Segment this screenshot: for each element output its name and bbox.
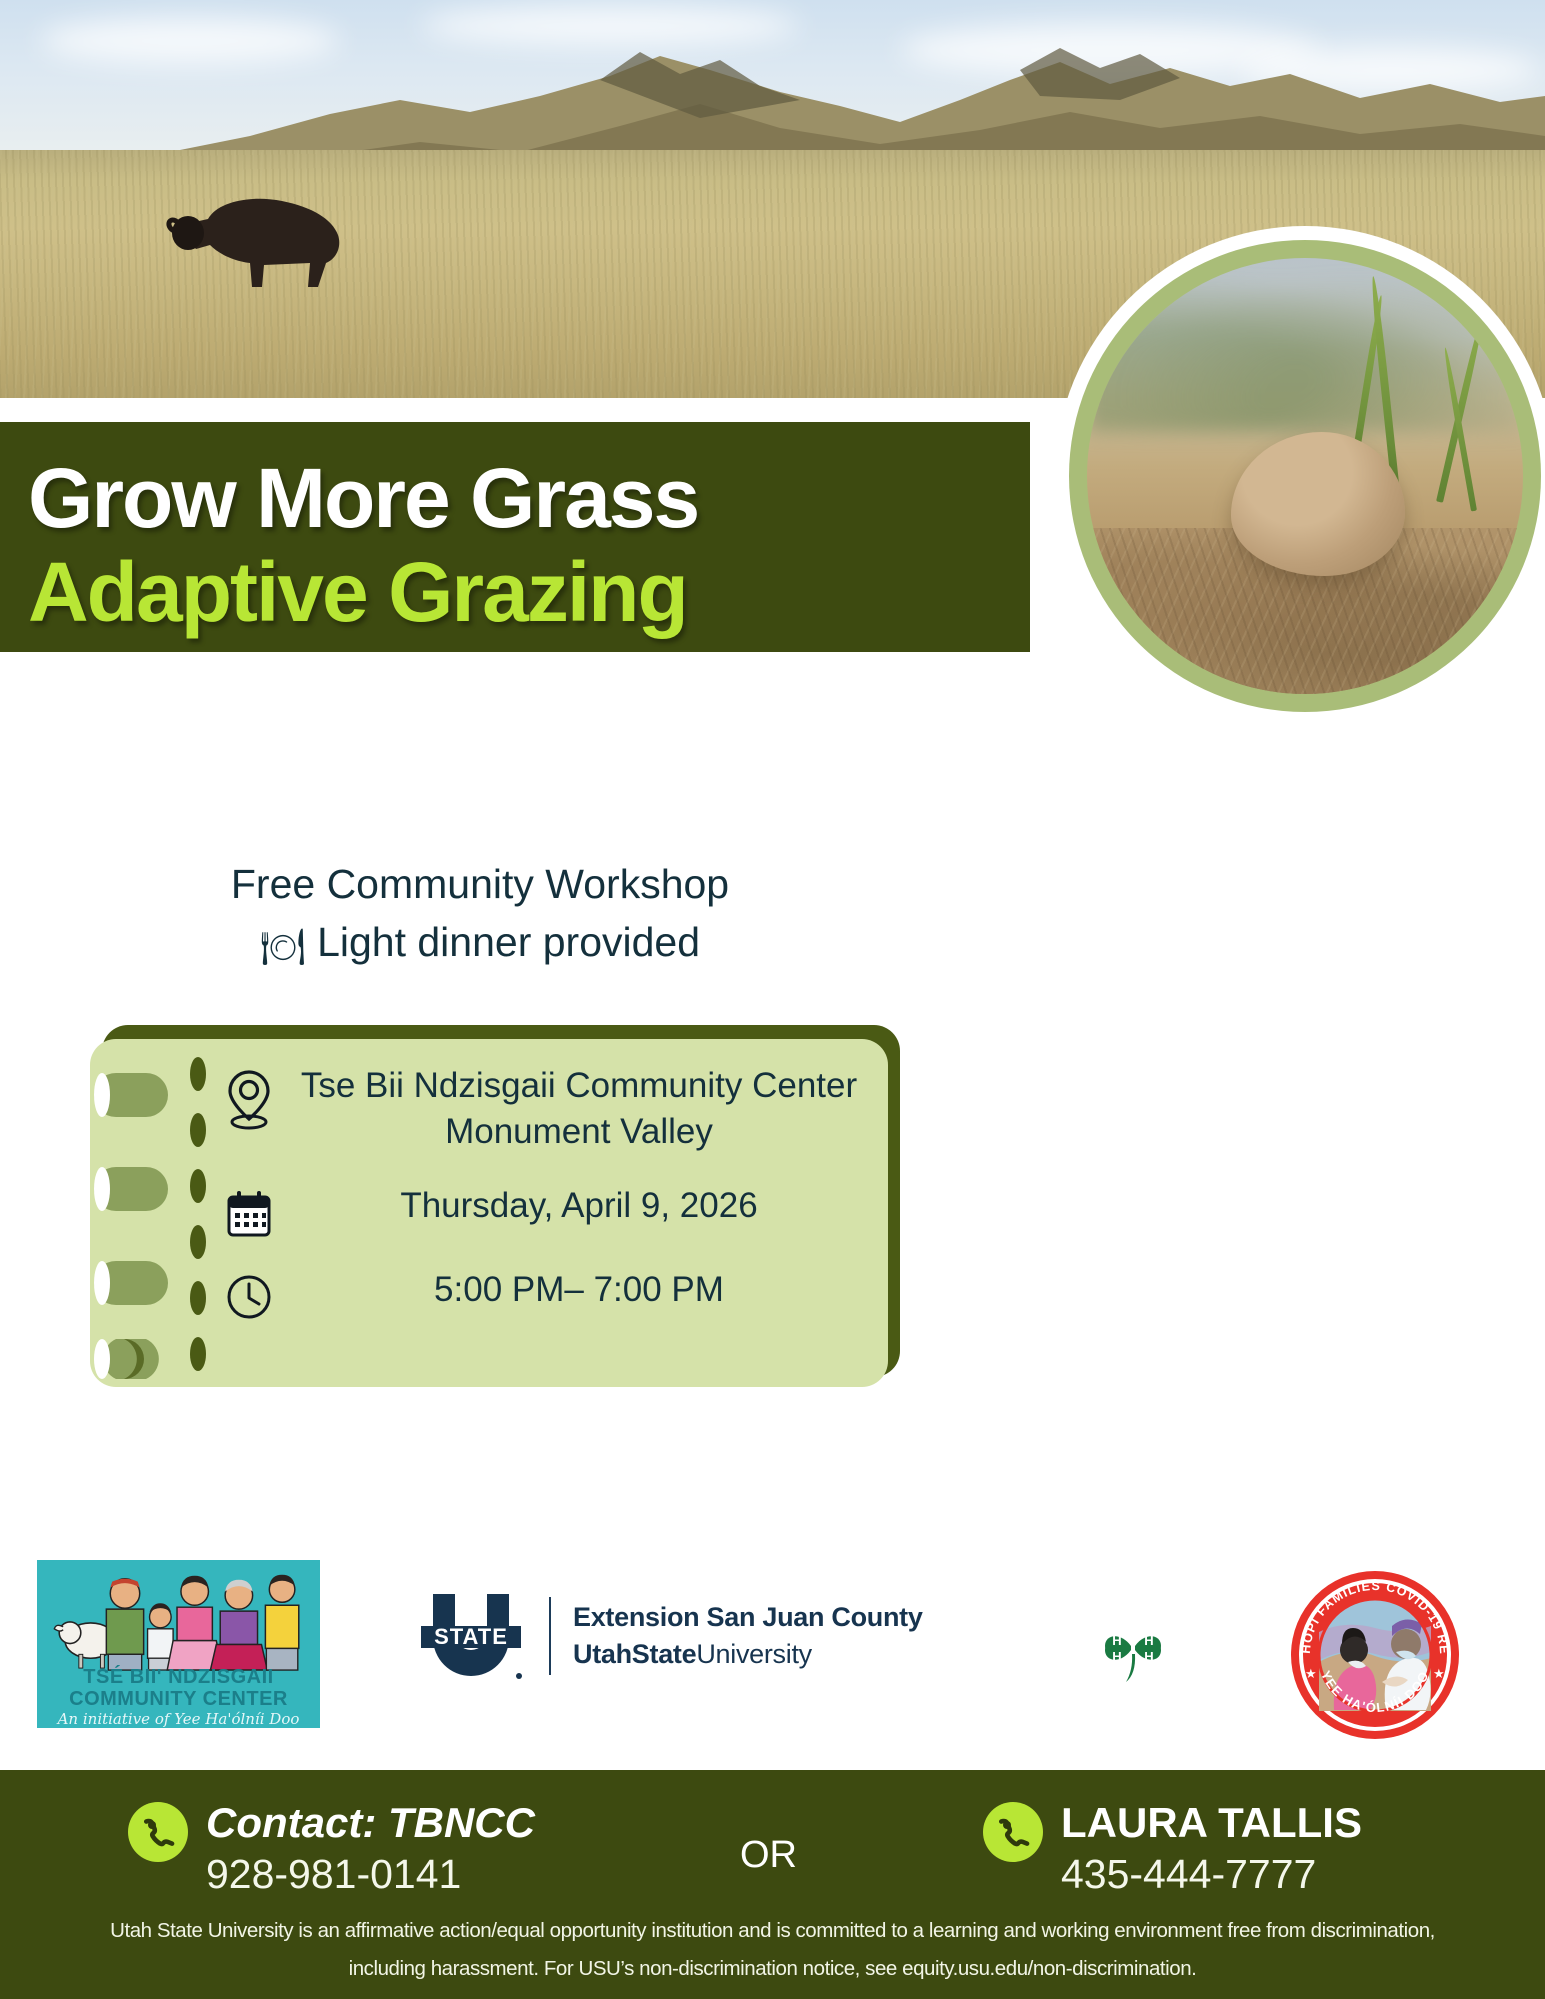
contact-laura-phone[interactable]: 435-444-7777 [1061,1848,1362,1900]
title-banner: Grow More Grass Adaptive Grazing [0,422,1030,652]
four-h-clover-icon: H H H H [1095,1610,1171,1686]
tbncc-people-illustration [37,1564,320,1672]
tbncc-logo: TSÉ BII' NDZISGAII COMMUNITY CENTER An i… [37,1560,320,1728]
seal-star-icon: ★ [1433,1666,1445,1681]
contact-tbncc[interactable]: Contact: TBNCC 928-981-0141 [128,1798,535,1900]
subtitle-line2-row: 🍽 Light dinner provided [0,913,960,976]
clover-h-letter: H [1144,1649,1153,1664]
usu-extension-logo: STATE Extension San Juan County UtahStat… [415,1588,923,1684]
contact-tbncc-name: Contact: TBNCC [206,1798,535,1848]
perforation-dot [190,1281,206,1315]
contact-laura-name: LAURA TALLIS [1061,1798,1362,1848]
subtitle-line1: Free Community Workshop [0,855,960,913]
subtitle-line2: Light dinner provided [317,919,700,965]
event-details-card: Tse Bii Ndzisgaii Community Center Monum… [70,1025,900,1390]
location-pin-icon [210,1063,288,1131]
location-text: Tse Bii Ndzisgaii Community Center Monum… [288,1063,870,1155]
tbncc-name-line2: COMMUNITY CENTER [37,1688,320,1710]
location-line1: Tse Bii Ndzisgaii Community Center [288,1063,870,1109]
perforation-dot [190,1057,206,1091]
contacts-row: Contact: TBNCC 928-981-0141 OR LAURA TAL… [0,1792,1545,1912]
perforation-dots [190,1057,206,1377]
seal-star-icon: ★ [1305,1666,1317,1681]
clock-icon [210,1267,288,1321]
meal-icon: 🍽 [260,926,306,967]
phone-icon [128,1802,188,1862]
contact-laura-tallis[interactable]: LAURA TALLIS 435-444-7777 [983,1798,1362,1900]
location-line2: Monument Valley [288,1109,870,1155]
date-text: Thursday, April 9, 2026 [288,1183,870,1229]
usu-text-block: Extension San Juan County UtahStateUnive… [573,1599,923,1673]
tbncc-tagline: An initiative of Yee Ha'ólníi Doo [37,1710,320,1728]
contact-tbncc-text: Contact: TBNCC 928-981-0141 [206,1798,535,1900]
clover-h-letter: H [1144,1633,1153,1648]
soil-photo-image [1087,258,1523,694]
usu-state-text: STATE [434,1624,508,1649]
location-row: Tse Bii Ndzisgaii Community Center Monum… [210,1063,870,1155]
or-separator: OR [740,1834,797,1877]
time-text: 5:00 PM– 7:00 PM [288,1267,870,1313]
usu-university-rest: University [696,1639,812,1669]
perforation-dot [190,1337,206,1371]
bison-icon [160,175,380,295]
clover-h-letter: H [1112,1633,1121,1648]
contact-tbncc-phone[interactable]: 928-981-0141 [206,1848,535,1900]
usu-university-bold: UtahState [573,1639,696,1669]
page-title-line1: Grow More Grass [28,452,1030,544]
tbncc-name: TSÉ BII' NDZISGAII COMMUNITY CENTER [37,1666,320,1710]
phone-icon [983,1802,1043,1862]
perforation-dot [190,1169,206,1203]
page-title-line2: Adaptive Grazing [28,544,1030,640]
clover-h-letter: H [1112,1649,1121,1664]
tbncc-name-line1: TSÉ BII' NDZISGAII [37,1666,320,1688]
perforation-dot [190,1113,206,1147]
time-row: 5:00 PM– 7:00 PM [210,1249,870,1321]
usu-block-u-icon: STATE [415,1588,527,1684]
subtitle-block: Free Community Workshop 🍽 Light dinner p… [0,855,960,976]
calendar-icon [210,1183,288,1239]
soil-circle-photo [1055,226,1545,726]
card-rows: Tse Bii Ndzisgaii Community Center Monum… [210,1063,870,1331]
usu-divider [549,1597,551,1675]
footer: Contact: TBNCC 928-981-0141 OR LAURA TAL… [0,1770,1545,1999]
soil-clod [1231,432,1405,576]
card-body: Tse Bii Ndzisgaii Community Center Monum… [90,1039,888,1387]
date-row: Thursday, April 9, 2026 [210,1165,870,1239]
contact-laura-text: LAURA TALLIS 435-444-7777 [1061,1798,1362,1900]
usu-extension-line: Extension San Juan County [573,1599,923,1635]
navajo-hopi-relief-fund-seal: NAVAJO & HOPI FAMILIES COVID-19 RELIEF F… [1290,1570,1460,1740]
logo-strip: TSÉ BII' NDZISGAII COMMUNITY CENTER An i… [0,1550,1545,1770]
usu-university-line: UtahStateUniversity [573,1635,923,1673]
disclaimer-text: Utah State University is an affirmative … [0,1912,1545,1988]
perforation-dot [190,1225,206,1259]
